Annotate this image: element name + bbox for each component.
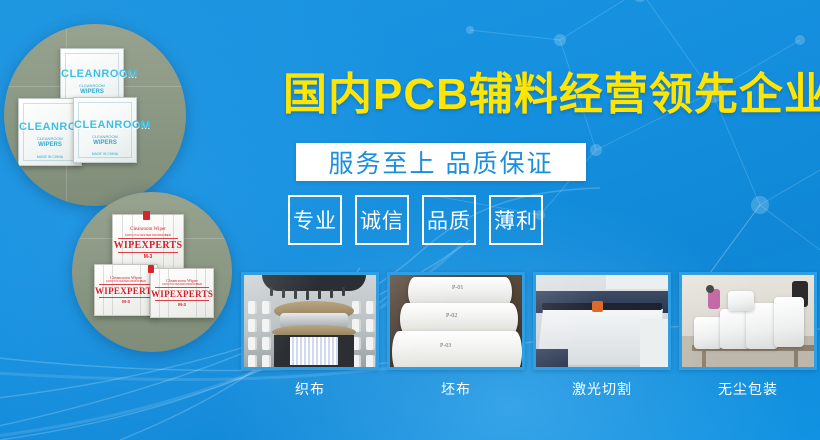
pack-brand-label: WIPEXPERTS: [151, 289, 213, 299]
thumbnail-image-greige-fabric[interactable]: P-01 P-02 P-03: [387, 272, 525, 370]
pack-brand-label: CLEANROOM: [19, 121, 81, 133]
process-thumbnail-list: 织布 P-01 P-02 P-03 坯布: [241, 272, 817, 399]
pack-sub-2: WIPERS: [61, 89, 123, 95]
feature-tag-integrity[interactable]: 诚信: [355, 195, 409, 245]
subtitle-band: 服务至上 品质保证: [296, 143, 586, 181]
pack-sub-text: 100% POLYESTER MICROFIBER: [95, 280, 157, 283]
pack-brand-label: WIPEXPERTS: [113, 240, 183, 251]
process-thumbnail-cleanroom-packing[interactable]: 无尘包装: [679, 272, 817, 399]
process-thumbnail-greige-fabric[interactable]: P-01 P-02 P-03 坯布: [387, 272, 525, 399]
pack-sub-1: CLEANROOM: [61, 83, 123, 88]
page-title: 国内PCB辅料经营领先企业: [283, 72, 820, 118]
pack-code: M-3: [151, 302, 213, 307]
thumbnail-image-cleanroom-packing[interactable]: [679, 272, 817, 370]
thumbnail-image-laser-cutting[interactable]: [533, 272, 671, 370]
thumbnail-caption: 织布: [241, 379, 379, 399]
subtitle-text: 服务至上 品质保证: [329, 144, 554, 180]
red-stamp: [143, 211, 150, 220]
thumbnail-image-weaving[interactable]: [241, 272, 379, 370]
pack-brand-label: CLEANROOM: [74, 119, 136, 131]
pack-sub-text: 100% POLYESTER MICROFIBER: [113, 233, 183, 237]
pack-sub-2: WIPERS: [74, 140, 136, 146]
thumbnail-caption: 激光切割: [533, 379, 671, 399]
pack-sub-3: MADE IN CHINA: [19, 155, 81, 159]
pack-brand-label: WIPEXPERTS: [95, 286, 157, 296]
process-thumbnail-laser-cutting[interactable]: 激光切割: [533, 272, 671, 399]
thumbnail-caption: 无尘包装: [679, 379, 817, 399]
red-stamp: [148, 265, 154, 273]
pack-code: M-3: [95, 299, 157, 304]
pack-sub-1: CLEANROOM: [74, 134, 136, 139]
pack-code: M-3: [113, 254, 183, 260]
process-thumbnail-weaving[interactable]: 织布: [241, 272, 379, 399]
pack-sub-text: 100% POLYESTER MICROFIBER: [151, 283, 213, 286]
promo-banner: CLEANROOM CLEANROOM WIPERS MADE IN CHINA…: [0, 0, 820, 440]
feature-tag-quality[interactable]: 品质: [422, 195, 476, 245]
pack-sub-1: CLEANROOM: [19, 136, 81, 141]
pack-top-text: Cleanroom Wiper: [113, 227, 183, 232]
wipexperts-pack: Cleanroom Wiper 100% POLYESTER MICROFIBE…: [150, 268, 214, 318]
feature-tag-low-margin[interactable]: 薄利: [489, 195, 543, 245]
thumbnail-caption: 坯布: [387, 379, 525, 399]
feature-tag-list: 专业 诚信 品质 薄利: [288, 195, 543, 245]
pack-sub-3: MADE IN CHINA: [74, 152, 136, 156]
pack-sub-2: WIPERS: [19, 142, 81, 148]
cleanroom-pack: CLEANROOM CLEANROOM WIPERS MADE IN CHINA: [73, 97, 137, 163]
product-photo-cleanroom: CLEANROOM CLEANROOM WIPERS MADE IN CHINA…: [4, 24, 186, 206]
product-photo-wipexperts: Cleanroom Wiper 100% POLYESTER MICROFIBE…: [72, 192, 232, 352]
pack-brand-label: CLEANROOM: [61, 68, 123, 80]
feature-tag-professional[interactable]: 专业: [288, 195, 342, 245]
